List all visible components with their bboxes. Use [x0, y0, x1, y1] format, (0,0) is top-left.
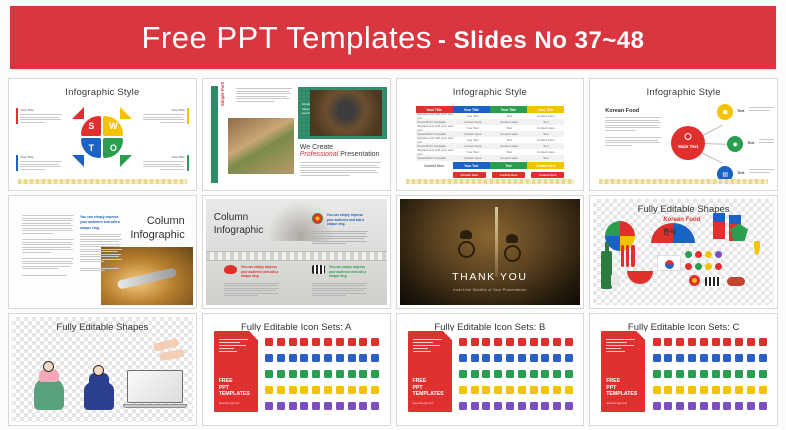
slide-thumbnail-icon-sets-c[interactable]: Fully Editable Icon Sets: C FREE PPT TEM… [589, 313, 778, 426]
banner-title: Free PPT Templates- Slides No 37~48 [141, 20, 644, 56]
gimbap-icon [312, 265, 325, 274]
table-header-cell: Your Title [490, 106, 527, 113]
printer-icon [265, 354, 273, 362]
globe-icon [676, 354, 684, 362]
slide-title: Column Infographic [214, 211, 263, 237]
drop-icon [565, 402, 573, 410]
molecule-icon [541, 370, 549, 378]
hanbok-robe [84, 382, 114, 410]
crown-icon [277, 386, 285, 394]
record-icon [653, 386, 661, 394]
door-knocker-mount-icon [506, 234, 518, 243]
signal-icon [700, 370, 708, 378]
smiley-icon [371, 402, 379, 410]
connector-line [701, 152, 723, 163]
factory-icon [265, 370, 273, 378]
slide-title: Infographic Style [400, 87, 581, 98]
slide-content: You can simply impress your audience and… [12, 199, 193, 304]
slide-content: Fully Editable Icon Sets: B FREE PPT TEM… [400, 317, 581, 422]
arrow-up-right-icon [120, 107, 132, 119]
gear-icon [688, 386, 696, 394]
leaf-icon [759, 370, 767, 378]
capsule-icon [565, 370, 573, 378]
slide-thumbnail-thank-you[interactable]: THANK YOU Insert the Subtitle of Your Pr… [396, 195, 585, 308]
briefcase-icon [336, 386, 344, 394]
camera-icon [300, 338, 308, 346]
card-note [606, 339, 635, 354]
grid-icon [348, 370, 356, 378]
apple-icon [300, 370, 308, 378]
door-knocker-mount-icon [460, 230, 472, 239]
slide-title: Fully Editable Shapes [12, 322, 193, 333]
vertical-label: Simple Portfolio Presentation [220, 82, 225, 106]
globe-icon [359, 354, 367, 362]
trophy-icon [289, 402, 297, 410]
laptop-icon [277, 354, 285, 362]
body-heading: Korean Food [605, 108, 661, 114]
red-info-card: FREE PPT TEMPLATES www.free-ppt.com [408, 331, 452, 412]
swot-wheel: S W T O [81, 116, 123, 158]
folder-icon [312, 386, 320, 394]
search-icon [688, 338, 696, 346]
stomach-icon [494, 338, 502, 346]
wallet-icon [371, 386, 379, 394]
checklist-icon [265, 386, 273, 394]
content-button[interactable]: Content Here [531, 172, 564, 178]
swot-quadrant-t: T [81, 138, 101, 158]
callout-caption: Your Title [20, 108, 62, 112]
pin-icon [530, 402, 538, 410]
bandage-icon [518, 370, 526, 378]
bone-icon [459, 338, 467, 346]
photo-korean-dish-2 [310, 90, 382, 136]
tube-icon [482, 386, 490, 394]
swot-diagram: Your Title Your Title Your Title [12, 82, 193, 187]
pill-bottle-icon [459, 370, 467, 378]
clock-icon [324, 338, 332, 346]
arrow-down-left-icon [72, 155, 84, 167]
title-line-2: Infographic [214, 224, 263, 237]
content-button[interactable]: Content Here [492, 172, 525, 178]
table-button-row: Content Here Content Here Content Here [416, 172, 565, 178]
korean-flag-icon [657, 255, 681, 271]
bag-icon [324, 386, 332, 394]
radiation-icon [735, 370, 743, 378]
bulb-icon [700, 386, 708, 394]
umbrella-icon [688, 354, 696, 362]
snow-icon [759, 402, 767, 410]
blood-drop-icon [565, 338, 573, 346]
slide-thumbnail-shapes-hanbok[interactable]: Fully Editable Shapes [8, 313, 197, 426]
medkit-icon [494, 370, 502, 378]
cell-heading: You can simply impress your audience and… [241, 265, 280, 278]
heart-icon [700, 338, 708, 346]
bottle-icon [553, 370, 561, 378]
red-info-card: FREE PPT TEMPLATES www.free-ppt.com [601, 331, 645, 412]
tree-icon [324, 370, 332, 378]
lantern-icon [713, 213, 725, 239]
dna-icon [518, 354, 526, 362]
laptop-screen [127, 370, 183, 403]
cross-icon [565, 354, 573, 362]
gimbap-icon [705, 277, 721, 286]
bird-icon [712, 386, 720, 394]
muscle-icon [471, 338, 479, 346]
chat-icon [348, 354, 356, 362]
megaphone-icon [735, 338, 743, 346]
battery-icon [664, 370, 672, 378]
lantern-top [713, 213, 725, 222]
swot-quadrant-w: W [103, 116, 123, 136]
content-button[interactable]: Content Here [453, 172, 486, 178]
cloud-icon [676, 402, 684, 410]
table-header-cell: Your Title [527, 106, 564, 113]
brand-line-1: FREE [606, 378, 637, 385]
title-line-1: Column [130, 215, 184, 229]
card-note [413, 339, 442, 354]
nerve-icon [518, 338, 526, 346]
table-footer-cell: Content Here [527, 162, 564, 169]
music-icon [289, 370, 297, 378]
phone-icon [712, 370, 720, 378]
smiley-icon [312, 402, 320, 410]
hub-circle-icon [685, 133, 692, 140]
car-icon [747, 354, 755, 362]
slide-thumbnail-swot[interactable]: Infographic Style Your Title Your Title [8, 78, 197, 191]
frame-icon [371, 370, 379, 378]
hourglass-icon [348, 338, 356, 346]
chart-icon [506, 402, 514, 410]
battery-icon [324, 354, 332, 362]
camera-icon [712, 338, 720, 346]
tag-icon [371, 338, 379, 346]
slide-thumbnail-icon-sets-a[interactable]: Fully Editable Icon Sets: A FREE PPT TEM… [202, 313, 391, 426]
connector-line [703, 143, 729, 145]
thank-you-subtitle: Insert the Subtitle of Your Presentation [400, 288, 581, 292]
arrow-up-left-icon [72, 107, 84, 119]
image-icon [676, 386, 684, 394]
heading-line1: We Create [300, 144, 381, 151]
speaker-icon [653, 370, 661, 378]
card-url: www.free-ppt.com [606, 402, 627, 405]
slide-content: Fully Editable Icon Sets: A FREE PPT TEM… [206, 317, 387, 422]
swot-callout-threats: Your Title [20, 155, 62, 171]
person-icon [653, 338, 661, 346]
callout-caption: Your Title [143, 108, 185, 112]
body-text-block: Korean Food [605, 108, 661, 147]
icon-grid [264, 335, 381, 414]
slide-content: Infographic Style Your Title Your Title … [400, 82, 581, 187]
cloud-icon [664, 402, 672, 410]
pig-icon [747, 386, 755, 394]
icon-grid [651, 335, 768, 414]
cart-icon [359, 338, 367, 346]
cell-icon [494, 354, 502, 362]
connector-line [701, 125, 723, 137]
slide-thumbnail-column-spoon[interactable]: You can simply impress your audience and… [8, 195, 197, 308]
cup-icon [611, 275, 620, 286]
card-fold-corner [636, 331, 645, 340]
scale-icon [553, 386, 561, 394]
heart-icon [506, 370, 514, 378]
card-fold-corner [443, 331, 452, 340]
slide-thumbnail-table[interactable]: Infographic Style Your Title Your Title … [396, 78, 585, 191]
cell-heading: You can simply impress your audience and… [329, 265, 368, 278]
window-icon [359, 370, 367, 378]
target-icon [312, 213, 323, 224]
slide-title: Column Infographic [130, 215, 184, 243]
syringe-icon [530, 354, 538, 362]
lock-icon [664, 354, 672, 362]
wind-icon [747, 402, 755, 410]
swot-callout-opportunities: Your Title [143, 155, 185, 171]
bus-icon [759, 354, 767, 362]
figure-head [43, 361, 54, 372]
figure-head [93, 365, 104, 376]
brand-line-3: TEMPLATES [413, 391, 444, 398]
card-brand: FREE PPT TEMPLATES [413, 378, 444, 398]
bulb-icon [289, 386, 297, 394]
slide-grid: Infographic Style Your Title Your Title [8, 78, 778, 426]
brand-line-3: TEMPLATES [219, 391, 250, 398]
search-icon [336, 370, 344, 378]
anchor-icon [653, 354, 661, 362]
plant-icon [471, 386, 479, 394]
virus-icon [506, 354, 514, 362]
dollar-icon [518, 386, 526, 394]
slide-title: Fully Editable Shapes [593, 204, 774, 215]
cloud-icon [530, 386, 538, 394]
rain-icon [688, 402, 696, 410]
slide-footer-pattern [18, 179, 187, 184]
trophy-icon [541, 402, 549, 410]
hangul-text: 한식 [663, 227, 676, 237]
kidney-icon [471, 354, 479, 362]
megaphone-icon [312, 338, 320, 346]
slide-thumbnail-node-diagram[interactable]: Infographic Style Korean Food Main Text [589, 78, 778, 191]
callout-caption: Your Title [20, 155, 62, 159]
brand-line-1: FREE [413, 378, 444, 385]
node-label: Text [737, 109, 744, 113]
meat-icon [727, 277, 745, 286]
card-fold-corner [249, 331, 258, 340]
battery-icon [676, 370, 684, 378]
door-knocker-ring-icon [504, 245, 521, 262]
slide-content: Fully Editable Shapes Korean Food 한식 [593, 199, 774, 304]
balloon-icon [336, 338, 344, 346]
anchor-icon [723, 386, 731, 394]
drop-icon [541, 386, 549, 394]
slide-content: Simple Portfolio Presentation Simple PPT… [206, 82, 387, 187]
mail-icon [277, 338, 285, 346]
card-brand: FREE PPT TEMPLATES [606, 378, 637, 398]
table-cell: Text [528, 155, 565, 161]
gender-icon [676, 338, 684, 346]
pen-icon [700, 354, 708, 362]
pin-icon [747, 370, 755, 378]
column-cell-1: You can simply impress your audience and… [312, 213, 368, 245]
slide-content: Column Infographic You can simply impres… [206, 199, 387, 304]
accent-bar [211, 86, 218, 183]
lungs-icon [482, 338, 490, 346]
tooth-icon [553, 338, 561, 346]
film-icon [482, 402, 490, 410]
bed-icon [494, 386, 502, 394]
slide-title: Infographic Style [593, 87, 774, 98]
heart-icon [482, 354, 490, 362]
brain-icon [459, 354, 467, 362]
table-header-cell: Your Title [453, 106, 490, 113]
script-text: Korean Food [663, 217, 700, 223]
arrow-down-right-icon [120, 155, 132, 167]
column-cell-3: You can simply impress your audience and… [312, 265, 368, 297]
thumbs-up-icon [265, 338, 273, 346]
sun-icon [712, 402, 720, 410]
wheel-icon [530, 370, 538, 378]
book-icon [336, 354, 344, 362]
photo-fence [206, 251, 387, 261]
callout-caption: Your Title [143, 155, 185, 159]
moon-icon [723, 402, 731, 410]
briefcase-icon [723, 354, 731, 362]
server-icon [371, 354, 379, 362]
umbrella-icon [553, 402, 561, 410]
banner-sub-text: - Slides No 37~48 [438, 27, 645, 54]
thermometer-icon [541, 354, 549, 362]
title-line-1: Column [214, 211, 263, 224]
slide-content: Infographic Style Korean Food Main Text [593, 82, 774, 187]
brand-line-3: TEMPLATES [606, 391, 637, 398]
slide-thumbnail-column-tree[interactable]: Column Infographic You can simply impres… [202, 195, 391, 308]
slide-thumbnail-photo-layout[interactable]: Simple Portfolio Presentation Simple PPT… [202, 78, 391, 191]
door-knocker-ring-icon [458, 241, 475, 258]
door-gap-light [495, 207, 498, 277]
thank-you-title: THANK YOU [400, 271, 581, 283]
pin-icon [277, 402, 285, 410]
column-heading: You can simply impress your audience and… [80, 215, 122, 230]
ginseng-icon [746, 241, 768, 283]
bowl-icon [565, 386, 573, 394]
card-note [219, 339, 248, 354]
column-cell-2: You can simply impress your audience and… [224, 265, 280, 297]
table-cell: PowerPoint Template [416, 155, 455, 161]
slide-thumbnail-shapes-korean-food[interactable]: Fully Editable Shapes Korean Food 한식 [589, 195, 778, 308]
text-column-2: You can simply impress your audience and… [80, 215, 122, 272]
clipboard-icon [471, 402, 479, 410]
person-icon [265, 402, 273, 410]
tablet-icon [300, 354, 308, 362]
spoon-icon [631, 245, 635, 267]
plane-icon [735, 354, 743, 362]
table-row: PowerPoint Template Content Here Content… [416, 155, 565, 161]
smiley-icon [324, 402, 332, 410]
laptop-base [123, 404, 187, 408]
thermometer-icon [735, 402, 743, 410]
ppt-template-preview-page: Free PPT Templates- Slides No 37~48 Info… [0, 0, 786, 430]
brand-line-2: PPT [219, 385, 250, 392]
clock-icon [723, 370, 731, 378]
scissors-icon [277, 370, 285, 378]
storm-icon [700, 402, 708, 410]
infographic-table: Your Title Your Title Your Title Your Ti… [416, 106, 565, 178]
title-line-2: Infographic [130, 229, 184, 243]
alert-icon [747, 338, 755, 346]
card-url: www.free-ppt.com [413, 402, 434, 405]
swot-callout-weaknesses: Your Title [143, 108, 185, 124]
kimchi-icon [224, 265, 237, 274]
gift-icon [359, 386, 367, 394]
chopstick-icon [621, 245, 624, 267]
person-icon [664, 338, 672, 346]
brand-line-2: PPT [413, 385, 444, 392]
node-label: Text [747, 141, 754, 145]
slide-content: Fully Editable Shapes [12, 317, 193, 422]
box-icon [348, 386, 356, 394]
flag-icon [759, 338, 767, 346]
boat-icon [735, 386, 743, 394]
brand-line-2: PPT [606, 385, 637, 392]
branch-node-yellow: ☗ [717, 104, 733, 120]
slide-content: Infographic Style Your Title Your Title [12, 82, 193, 187]
table-footer-cell: Content Here [416, 162, 453, 169]
hub-label: Main Text [678, 144, 698, 149]
header-banner: Free PPT Templates- Slides No 37~48 [10, 6, 776, 69]
smiley-icon [348, 402, 356, 410]
hub-node: Main Text [671, 126, 705, 160]
photo-wooden-doors: THANK YOU Insert the Subtitle of Your Pr… [400, 199, 581, 304]
icon-grid [458, 335, 575, 414]
calendar-icon [459, 402, 467, 410]
pen-icon [300, 402, 308, 410]
leaf-icon [312, 370, 320, 378]
slide-content: THANK YOU Insert the Subtitle of Your Pr… [400, 199, 581, 304]
heading-accent: Professional [300, 151, 339, 158]
photo-korean-dish-1 [228, 118, 294, 174]
lantern-top [729, 215, 741, 224]
microscope-icon [553, 354, 561, 362]
phone-icon [312, 354, 320, 362]
slide-footer-pattern [599, 179, 768, 184]
smiley-icon [336, 402, 344, 410]
smiley-icon [359, 402, 367, 410]
at-sign-icon [518, 402, 526, 410]
flask-icon [459, 386, 467, 394]
table-cell: Content Here [454, 155, 491, 161]
heading-line2: Professional Presentation [300, 151, 381, 158]
laptop-icon [127, 370, 183, 408]
ribbon-icon [530, 338, 538, 346]
hanbok-skirt [34, 378, 64, 410]
liver-icon [506, 338, 514, 346]
slide-thumbnail-icon-sets-b[interactable]: Fully Editable Icon Sets: B FREE PPT TEM… [396, 313, 585, 426]
table-footer-cell: Your Text [453, 162, 490, 169]
target-icon [300, 386, 308, 394]
table-footer-row: Content Here Your Text Text Content Here [416, 162, 565, 169]
table-footer-cell: Text [490, 162, 527, 169]
lock-icon [712, 354, 720, 362]
horse-icon [759, 386, 767, 394]
brand-line-1: FREE [219, 378, 250, 385]
cloud-icon [653, 402, 661, 410]
monitor-icon [494, 402, 502, 410]
swot-quadrant-s: S [81, 116, 101, 136]
banner-main-text: Free PPT Templates [141, 20, 431, 55]
card-brand: FREE PPT TEMPLATES [219, 378, 250, 398]
play-icon [664, 386, 672, 394]
text-column-1 [22, 215, 74, 277]
heading-tail: Presentation [338, 151, 379, 158]
spoon-shape [117, 267, 177, 289]
